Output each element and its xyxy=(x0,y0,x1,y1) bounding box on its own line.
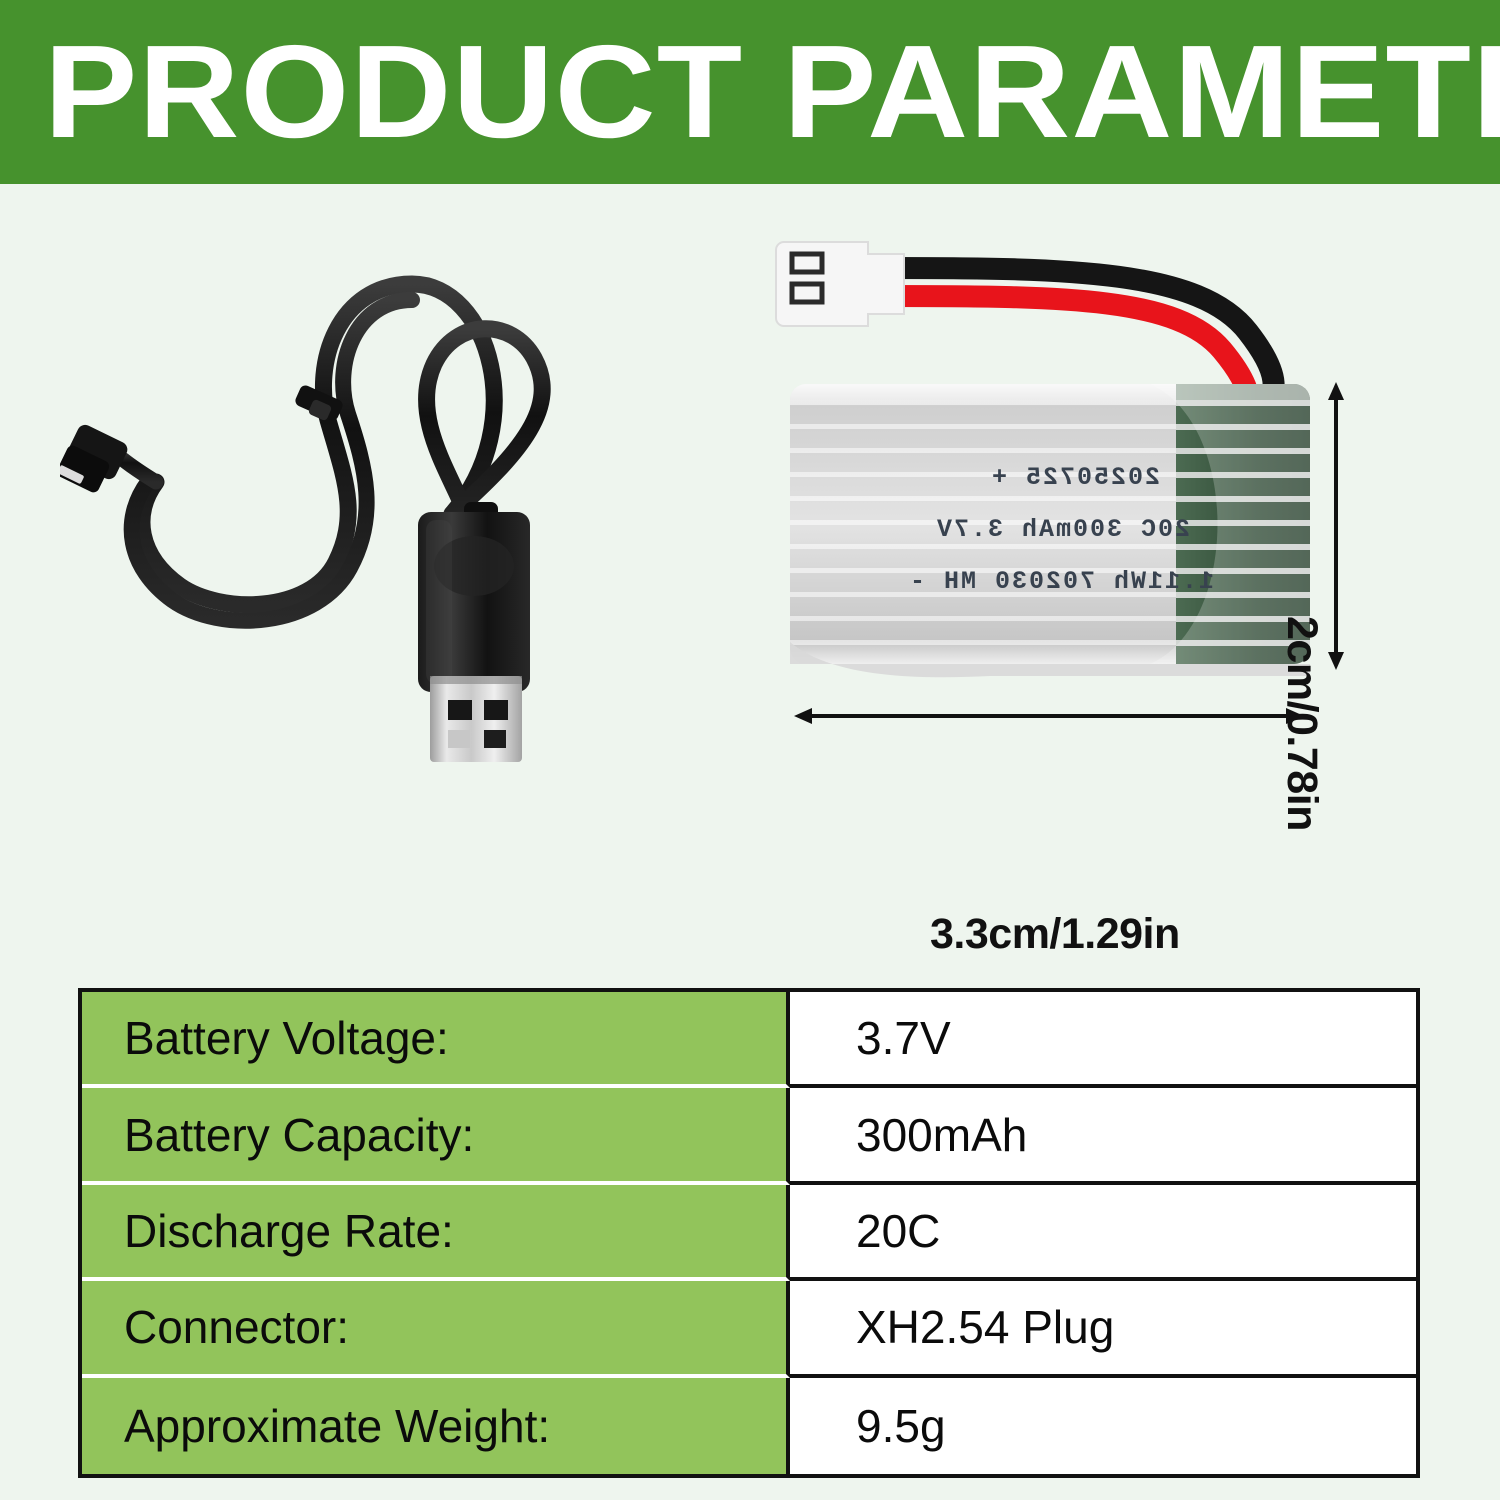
table-row: Approximate Weight: 9.5g xyxy=(82,1378,1416,1474)
xh-connector-icon xyxy=(776,242,904,326)
spec-value-battery-capacity: 300mAh xyxy=(790,1088,1416,1184)
battery-height-label: 2cm/0.78in xyxy=(1277,616,1326,831)
usb-cable-icon xyxy=(60,214,640,794)
battery-width-label: 3.3cm/1.29in xyxy=(930,910,1180,959)
header-banner: PRODUCT PARAMETERS xyxy=(0,0,1500,184)
table-row: Connector: XH2.54 Plug xyxy=(82,1281,1416,1377)
spec-value-connector: XH2.54 Plug xyxy=(790,1281,1416,1377)
spec-label-discharge-rate: Discharge Rate: xyxy=(82,1185,790,1281)
spec-value-discharge-rate: 20C xyxy=(790,1185,1416,1281)
spec-label-battery-voltage: Battery Voltage: xyxy=(82,992,790,1088)
width-dimension-arrow xyxy=(794,708,1304,724)
spec-label-battery-capacity: Battery Capacity: xyxy=(82,1088,790,1184)
micro-usb-connector-icon xyxy=(60,422,130,494)
product-image-stage: 20250725 + 20C 300mAh 3.7V 1.11Wh 702030… xyxy=(0,184,1500,944)
battery-label-line-1: 20250725 + xyxy=(990,463,1160,492)
spec-value-battery-voltage: 3.7V xyxy=(790,992,1416,1088)
page-title: PRODUCT PARAMETERS xyxy=(44,26,1500,158)
spec-value-approximate-weight: 9.5g xyxy=(790,1378,1416,1474)
table-row: Battery Voltage: 3.7V xyxy=(82,992,1416,1088)
specification-table: Battery Voltage: 3.7V Battery Capacity: … xyxy=(78,988,1420,1478)
spec-label-approximate-weight: Approximate Weight: xyxy=(82,1378,790,1474)
table-row: Battery Capacity: 300mAh xyxy=(82,1088,1416,1184)
spec-label-connector: Connector: xyxy=(82,1281,790,1377)
battery-label-line-3: 1.11Wh 702030 MH - xyxy=(908,567,1214,596)
usb-cable-image xyxy=(60,214,640,794)
battery-label-line-2: 20C 300mAh 3.7V xyxy=(935,515,1190,544)
height-dimension-arrow xyxy=(1328,382,1344,670)
table-row: Discharge Rate: 20C xyxy=(82,1185,1416,1281)
